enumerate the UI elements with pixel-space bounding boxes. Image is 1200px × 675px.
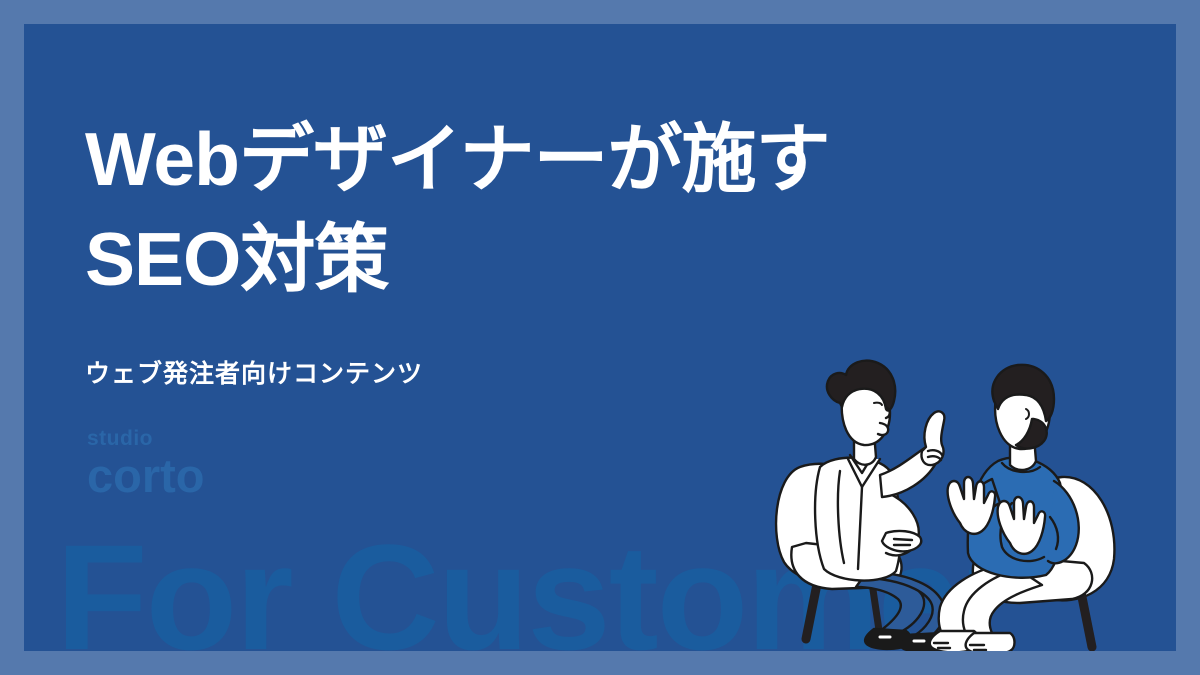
- illustration-two-people-talking: [762, 347, 1162, 651]
- man-figure: [930, 365, 1115, 651]
- studio-corto-logo: studio corto: [87, 428, 205, 499]
- page-title: Webデザイナーが施す SEO対策: [85, 110, 785, 310]
- slide-panel: For Customer: [24, 24, 1176, 651]
- illustration-svg: [762, 347, 1162, 651]
- woman-figure: [776, 361, 946, 651]
- logo-word-corto: corto: [87, 452, 205, 499]
- title-line-1: Webデザイナーが施す: [85, 110, 785, 210]
- title-line-2: SEO対策: [85, 210, 785, 310]
- logo-word-studio: studio: [87, 428, 205, 449]
- subtitle: ウェブ発注者向けコンテンツ: [85, 354, 785, 390]
- slide-canvas: For Customer: [0, 0, 1200, 675]
- headline-block: Webデザイナーが施す SEO対策 ウェブ発注者向けコンテンツ: [85, 110, 785, 390]
